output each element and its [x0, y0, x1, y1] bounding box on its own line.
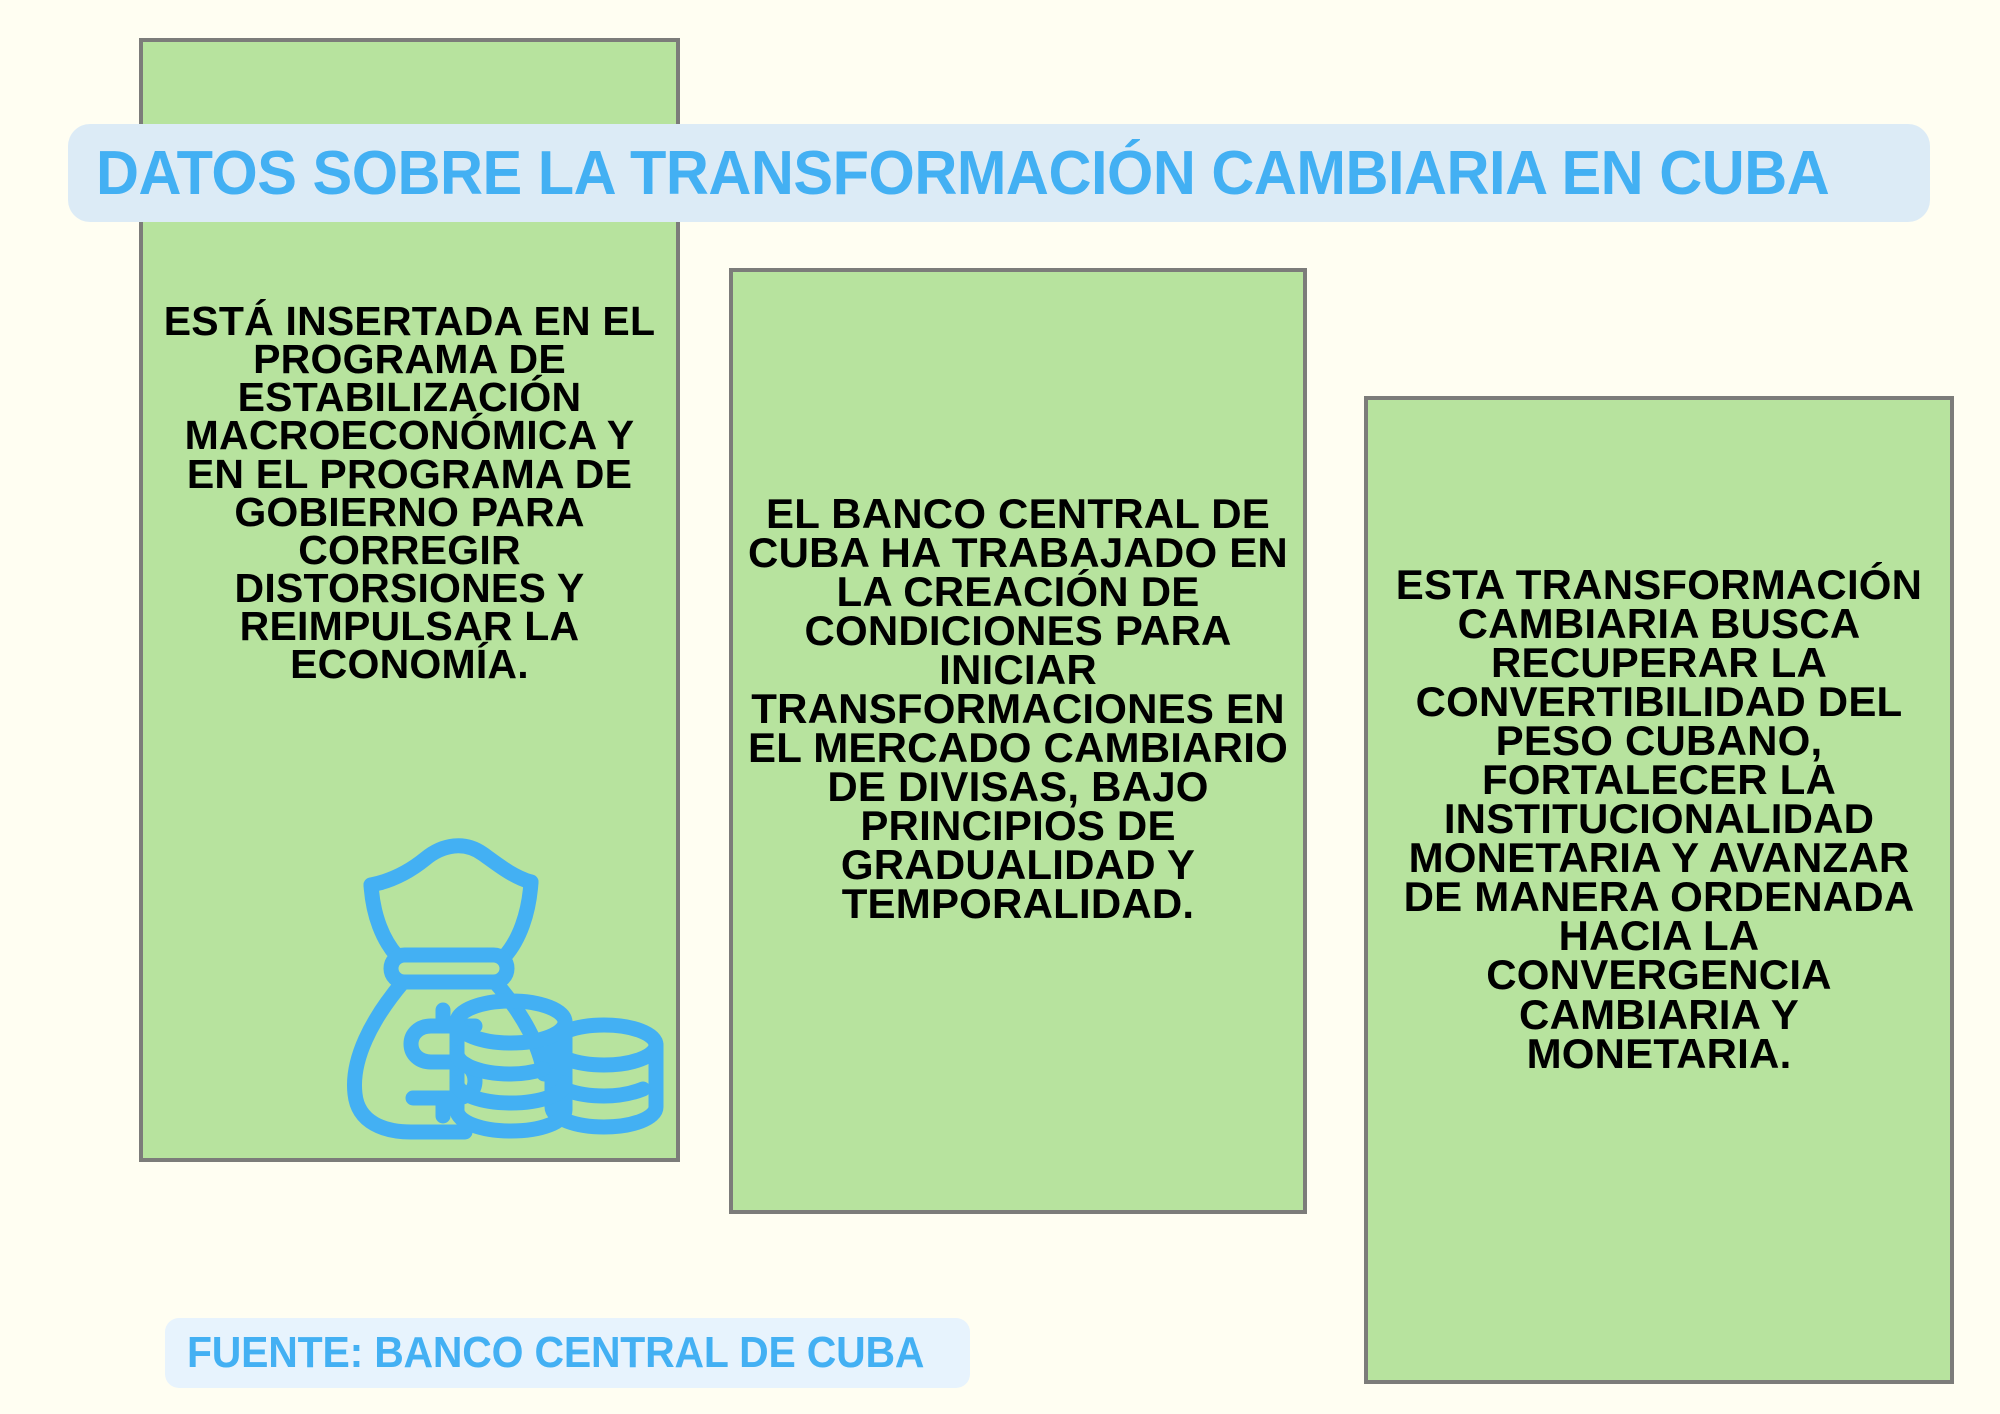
info-panel-3: ESTA TRANSFORMACIÓN CAMBIARIA BUSCA RECU… [1364, 396, 1954, 1384]
title-badge: DATOS SOBRE LA TRANSFORMACIÓN CAMBIARIA … [68, 124, 1930, 222]
money-bag-coins-icon [325, 832, 675, 1142]
info-panel-2-text: EL BANCO CENTRAL DE CUBA HA TRABAJADO EN… [733, 494, 1303, 924]
info-panel-3-text: ESTA TRANSFORMACIÓN CAMBIARIA BUSCA RECU… [1368, 565, 1950, 1073]
source-badge: FUENTE: BANCO CENTRAL DE CUBA [165, 1318, 970, 1388]
infographic-canvas: ESTÁ INSERTADA EN EL PROGRAMA DE ESTABIL… [0, 0, 2000, 1414]
info-panel-2: EL BANCO CENTRAL DE CUBA HA TRABAJADO EN… [729, 268, 1307, 1214]
info-panel-1-text: ESTÁ INSERTADA EN EL PROGRAMA DE ESTABIL… [143, 302, 676, 683]
page-title: DATOS SOBRE LA TRANSFORMACIÓN CAMBIARIA … [96, 138, 1829, 209]
source-label: FUENTE: BANCO CENTRAL DE CUBA [187, 1328, 924, 1378]
